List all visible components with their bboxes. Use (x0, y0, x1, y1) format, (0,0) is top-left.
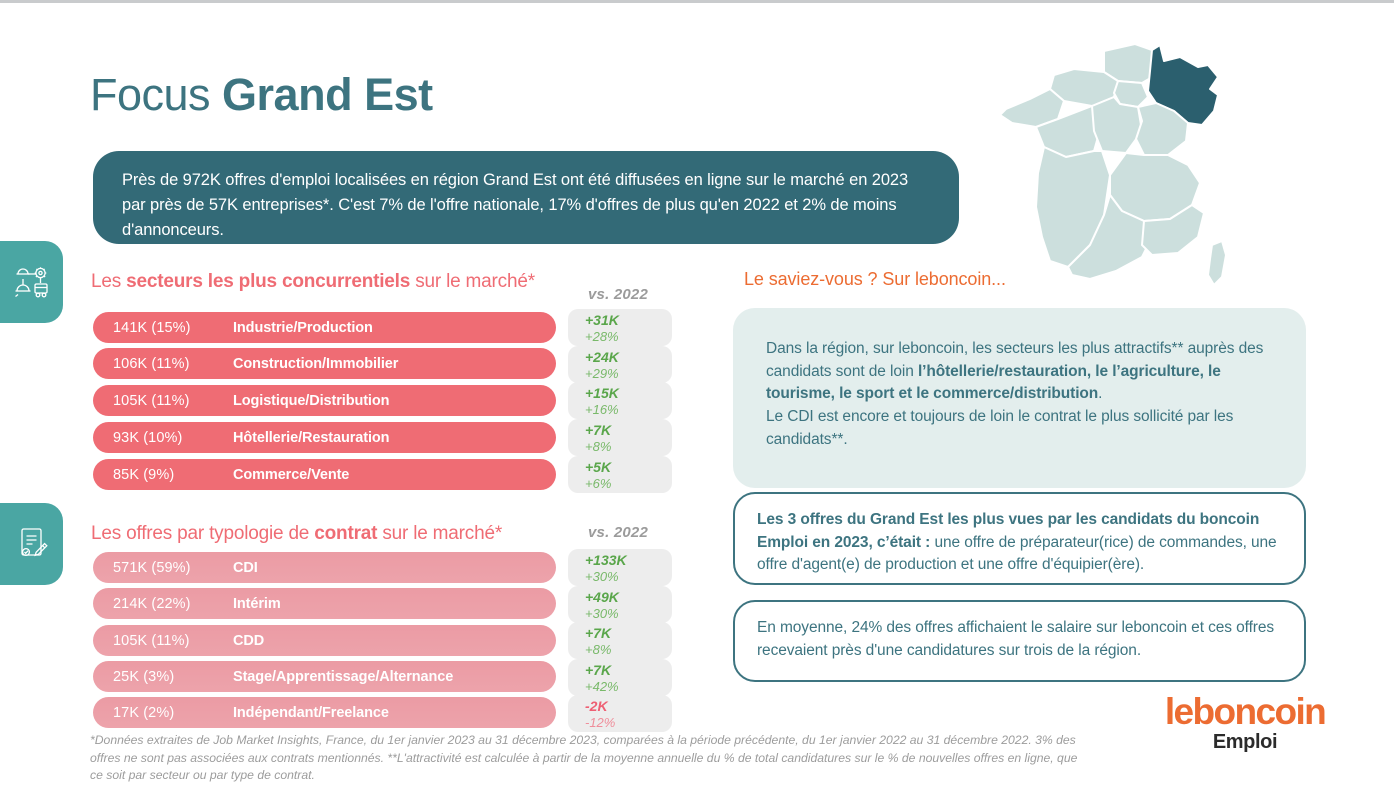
map-region-nouvelle-aquitaine (1036, 147, 1110, 267)
footnote: *Données extraites de Job Market Insight… (90, 732, 1080, 785)
contracts-heading-emphasis: contrat (314, 523, 377, 544)
delta-badge: +7K +42% (568, 659, 672, 696)
delta-pct: +8% (585, 642, 672, 657)
map-region-occitanie (1068, 195, 1152, 279)
map-region-hauts-de-france (1104, 44, 1159, 83)
bar-label: Construction/Immobilier (233, 356, 398, 372)
bar-value: 214K (22%) (93, 596, 233, 612)
delta-abs: +15K (585, 385, 672, 402)
map-region-bourgogne-franche-comte (1136, 103, 1188, 155)
table-row: 105K (11%) Logistique/Distribution (93, 385, 556, 416)
leboncoin-wordmark: leboncoin (1161, 695, 1329, 730)
sectors-heading-emphasis: secteurs les plus concurrentiels (126, 271, 410, 292)
table-row: 214K (22%) Intérim (93, 588, 556, 619)
bar-value: 85K (9%) (93, 467, 233, 483)
delta-pct: +30% (585, 606, 672, 621)
delta-pct: -12% (585, 715, 672, 730)
delta-badge: +24K +29% (568, 346, 672, 383)
delta-abs: +7K (585, 662, 672, 679)
delta-abs: +5K (585, 459, 672, 476)
page-title: Focus Grand Est (90, 69, 433, 121)
sectors-vs-label: vs. 2022 (588, 286, 648, 303)
delta-badge: -2K -12% (568, 695, 672, 732)
delta-pct: +6% (585, 476, 672, 491)
contracts-heading-prefix: Les offres par typologie de (91, 523, 314, 544)
table-row: 93K (10%) Hôtellerie/Restauration (93, 422, 556, 453)
delta-pct: +42% (585, 679, 672, 694)
table-row: 17K (2%) Indépendant/Freelance (93, 697, 556, 728)
table-row: 571K (59%) CDI (93, 552, 556, 583)
delta-abs: +7K (585, 625, 672, 642)
sectors-tab[interactable] (0, 241, 63, 323)
delta-abs: -2K (585, 698, 672, 715)
delta-badge: +49K +30% (568, 586, 672, 623)
contracts-section-heading: Les offres par typologie de contrat sur … (91, 523, 502, 545)
bar-value: 141K (15%) (93, 320, 233, 336)
map-region-corse (1208, 241, 1226, 285)
footnote-text: *Données extraites de Job Market Insight… (90, 732, 1080, 785)
delta-badge: +133K +30% (568, 549, 672, 586)
map-region-auvergne-rhone-alpes (1110, 153, 1200, 221)
bar-value: 105K (11%) (93, 633, 233, 649)
did-you-know-heading: Le saviez-vous ? Sur leboncoin... (744, 269, 1006, 290)
delta-pct: +16% (585, 402, 672, 417)
delta-pct: +29% (585, 366, 672, 381)
bar-value: 25K (3%) (93, 669, 233, 685)
leboncoin-logo: leboncoin Emploi (1161, 695, 1329, 754)
info-box-top-offers-text: Les 3 offres du Grand Est les plus vues … (757, 509, 1280, 577)
delta-pct: +30% (585, 569, 672, 584)
map-region-normandie (1050, 69, 1118, 106)
france-map (992, 31, 1292, 321)
delta-pct: +8% (585, 439, 672, 454)
map-region-ile-de-france (1114, 81, 1148, 107)
info-box-attractive-sectors: Dans la région, sur leboncoin, les secte… (733, 308, 1306, 488)
bar-label: Hôtellerie/Restauration (233, 430, 389, 446)
delta-abs: +24K (585, 349, 672, 366)
table-row: 25K (3%) Stage/Apprentissage/Alternance (93, 661, 556, 692)
bar-value: 105K (11%) (93, 393, 233, 409)
map-region-bretagne (1000, 89, 1064, 127)
bar-label: Intérim (233, 596, 281, 612)
bar-label: Indépendant/Freelance (233, 705, 389, 721)
map-region-paca (1142, 205, 1204, 255)
delta-abs: +49K (585, 589, 672, 606)
contracts-heading-suffix: sur le marché* (377, 523, 502, 544)
page-title-prefix: Focus (90, 69, 222, 120)
info-post: . (1098, 385, 1102, 402)
delta-badge: +7K +8% (568, 419, 672, 456)
bar-label: Industrie/Production (233, 320, 373, 336)
contract-icon (16, 526, 48, 562)
sectors-heading-prefix: Les (91, 271, 126, 292)
info-box-top-offers: Les 3 offres du Grand Est les plus vues … (733, 492, 1306, 585)
intro-summary-text: Près de 972K offres d'emploi localisées … (122, 168, 925, 243)
info-box-salary-text: En moyenne, 24% des offres affichaient l… (757, 617, 1280, 662)
map-region-grand-est (1148, 45, 1218, 125)
delta-abs: +31K (585, 312, 672, 329)
map-region-centre-val-de-loire (1092, 97, 1142, 153)
map-region-pays-de-la-loire (1036, 106, 1102, 157)
bar-label: CDI (233, 560, 258, 576)
delta-badge: +15K +16% (568, 382, 672, 419)
bar-label: Logistique/Distribution (233, 393, 389, 409)
infographic-page: Focus Grand Est Près de 972K offres d'em… (0, 0, 1394, 786)
bar-value: 93K (10%) (93, 430, 233, 446)
table-row: 105K (11%) CDD (93, 625, 556, 656)
contracts-vs-label: vs. 2022 (588, 524, 648, 541)
intro-summary-box: Près de 972K offres d'emploi localisées … (93, 151, 959, 244)
delta-badge: +5K +6% (568, 456, 672, 493)
delta-abs: +7K (585, 422, 672, 439)
sectors-section-heading: Les secteurs les plus concurrentiels sur… (91, 271, 535, 293)
bar-label: Stage/Apprentissage/Alternance (233, 669, 453, 685)
info-box-salary: En moyenne, 24% des offres affichaient l… (733, 600, 1306, 682)
emploi-wordmark: Emploi (1161, 731, 1329, 754)
bar-value: 106K (11%) (93, 356, 233, 372)
contracts-tab[interactable] (0, 503, 63, 585)
bar-label: Commerce/Vente (233, 467, 349, 483)
info-box-cdi-text: Le CDI est encore et toujours de loin le… (766, 406, 1270, 451)
sectors-heading-suffix: sur le marché* (410, 271, 535, 292)
bar-value: 17K (2%) (93, 705, 233, 721)
sectors-icon (14, 265, 50, 299)
table-row: 85K (9%) Commerce/Vente (93, 459, 556, 490)
info-box-attractive-sectors-text: Dans la région, sur leboncoin, les secte… (766, 338, 1270, 406)
table-row: 106K (11%) Construction/Immobilier (93, 348, 556, 379)
table-row: 141K (15%) Industrie/Production (93, 312, 556, 343)
page-title-emphasis: Grand Est (222, 69, 433, 120)
delta-pct: +28% (585, 329, 672, 344)
bar-value: 571K (59%) (93, 560, 233, 576)
delta-abs: +133K (585, 552, 672, 569)
delta-badge: +31K +28% (568, 309, 672, 346)
bar-label: CDD (233, 633, 264, 649)
delta-badge: +7K +8% (568, 622, 672, 659)
